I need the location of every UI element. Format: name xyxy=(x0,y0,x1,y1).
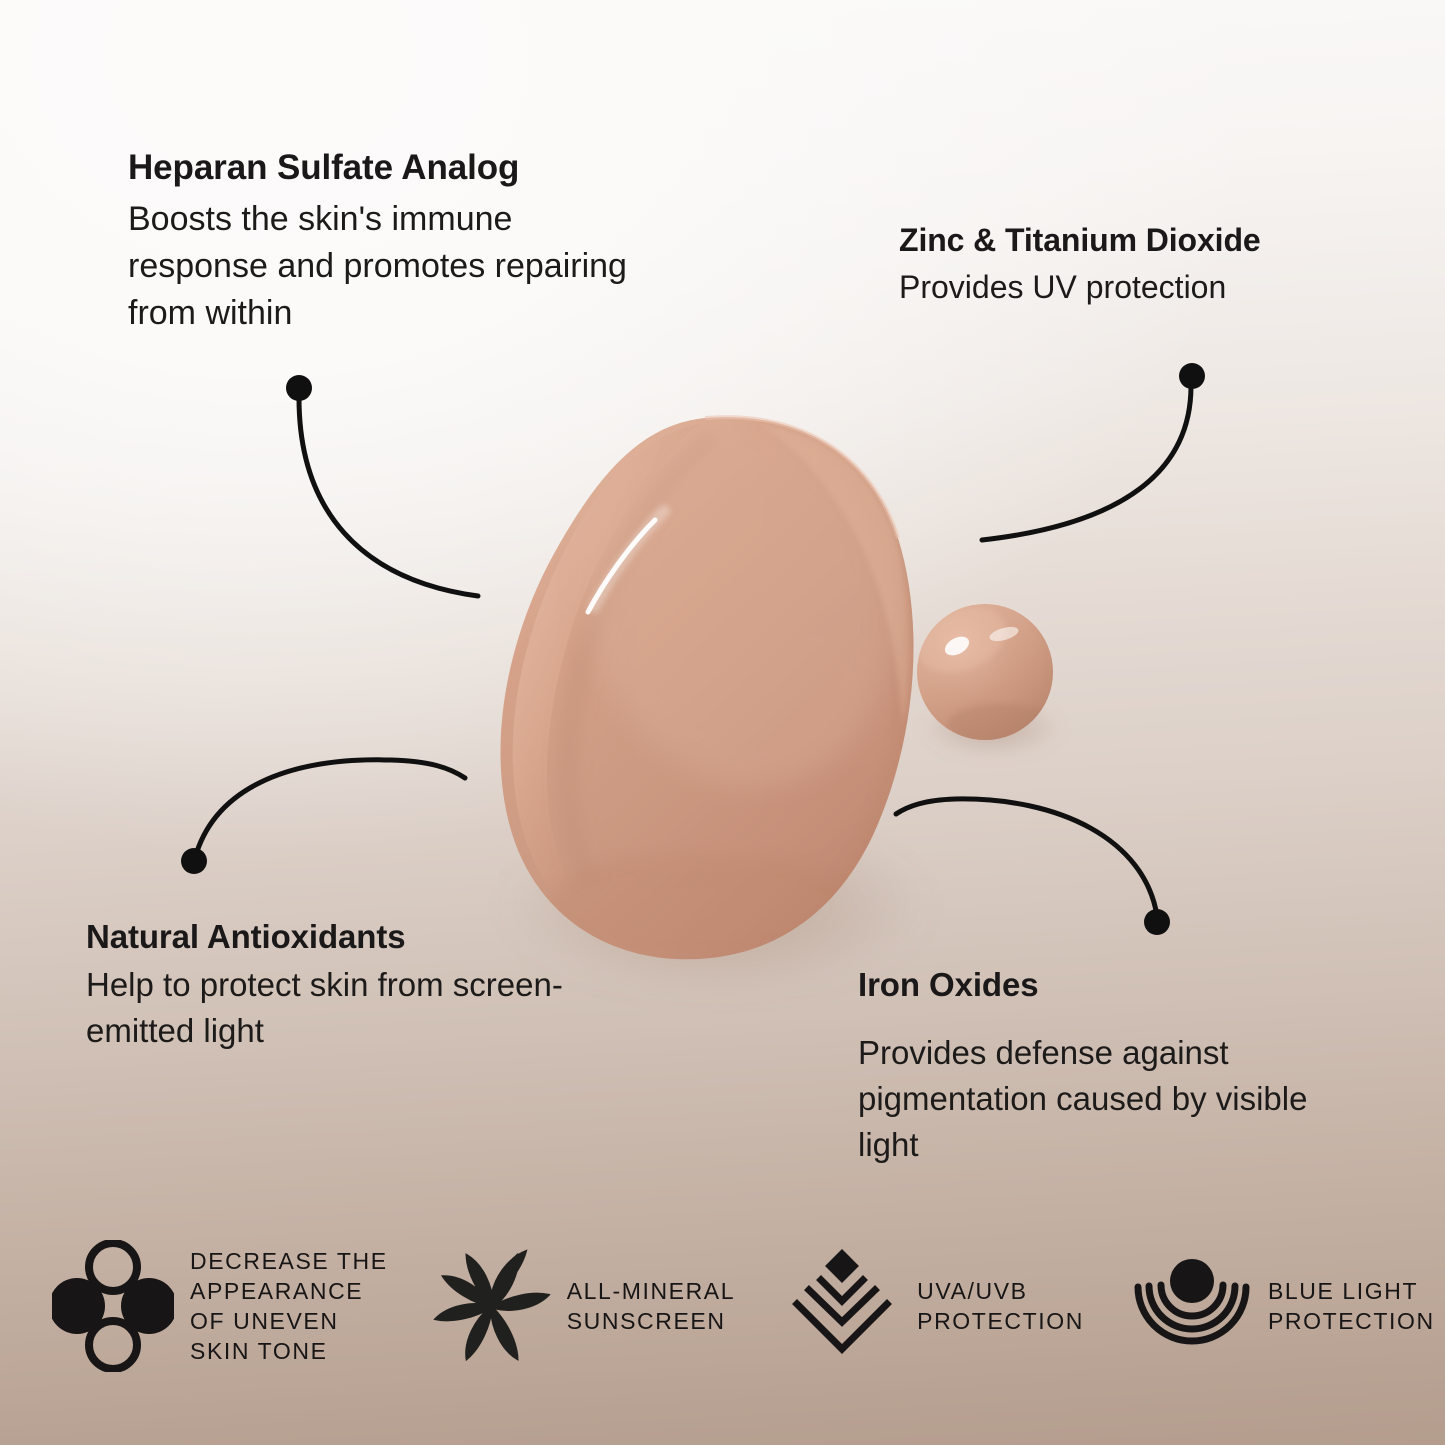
four-circles-diamond-icon xyxy=(52,1240,174,1372)
callout-natural-antioxidants: Natural Antioxidants Help to protect ski… xyxy=(86,915,576,1054)
benefit-label: BLUE LIGHT PROTECTION xyxy=(1268,1276,1435,1336)
callout-iron-oxides: Iron Oxides Provides defense against pig… xyxy=(858,963,1358,1168)
callout-zinc-titanium-dioxide: Zinc & Titanium Dioxide Provides UV prot… xyxy=(899,219,1369,310)
callout-heparan-sulfate-analog: Heparan Sulfate Analog Boosts the skin's… xyxy=(128,146,628,337)
benefit-all-mineral-sunscreen: ALL-MINERAL SUNSCREEN xyxy=(433,1245,735,1367)
callout-body: Provides defense against pigmentation ca… xyxy=(858,1030,1358,1168)
callout-title: Zinc & Titanium Dioxide xyxy=(899,219,1369,261)
callout-title: Iron Oxides xyxy=(858,963,1358,1006)
product-ingredient-infographic: Heparan Sulfate Analog Boosts the skin's… xyxy=(0,0,1445,1445)
benefit-label: ALL-MINERAL SUNSCREEN xyxy=(567,1276,735,1336)
callout-body: Provides UV protection xyxy=(899,265,1369,310)
radiating-arcs-icon xyxy=(1132,1246,1252,1366)
benefit-decrease-uneven-skin-tone: DECREASE THE APPEARANCE OF UNEVEN SKIN T… xyxy=(52,1240,388,1372)
callout-title: Heparan Sulfate Analog xyxy=(128,146,628,190)
callout-body: Help to protect skin from screen-emitted… xyxy=(86,962,576,1054)
chevron-rays-icon xyxy=(783,1246,901,1366)
benefit-uva-uvb-protection: UVA/UVB PROTECTION xyxy=(783,1246,1084,1366)
benefit-label: UVA/UVB PROTECTION xyxy=(917,1276,1084,1336)
flower-petals-icon xyxy=(433,1245,551,1367)
callout-body: Boosts the skin's immune response and pr… xyxy=(128,196,628,337)
benefit-blue-light-protection: BLUE LIGHT PROTECTION xyxy=(1132,1246,1435,1366)
benefit-badge-row: DECREASE THE APPEARANCE OF UNEVEN SKIN T… xyxy=(0,1216,1445,1396)
callout-title: Natural Antioxidants xyxy=(86,915,576,958)
benefit-label: DECREASE THE APPEARANCE OF UNEVEN SKIN T… xyxy=(190,1246,388,1366)
